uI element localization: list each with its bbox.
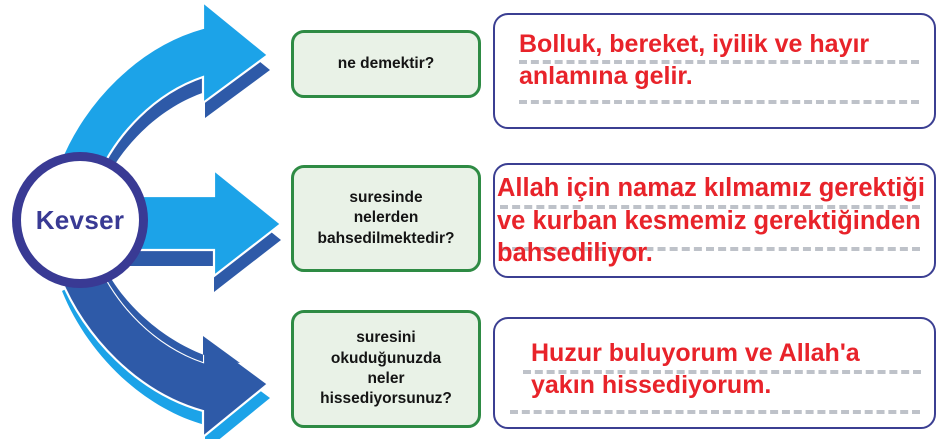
answer-line: yakın hissediyorum. [531,369,860,401]
question-line: bahsedilmektedir? [318,230,455,247]
answer-text-3: Huzur buluyorum ve Allah'a yakın hissedi… [531,337,860,401]
question-line: okuduğunuzda [331,350,441,367]
answer-line: Huzur buluyorum ve Allah'a [531,337,860,369]
answer-line: Bolluk, bereket, iyilik ve hayır [519,28,869,60]
question-box-2[interactable]: suresinde nelerden bahsedilmektedir? [291,165,481,272]
answer-text-1: Bolluk, bereket, iyilik ve hayır anlamın… [519,28,869,92]
answer-text-2: Allah için namaz kılmamız gerektiği ve k… [497,172,925,270]
question-box-3[interactable]: suresini okuduğunuzda neler hissediyorsu… [291,310,481,428]
answer-line: bahsediliyor. [497,237,925,270]
answer-line: ve kurban kesmemiz gerektiğinden [497,205,925,238]
question-line: ne demektir? [338,55,434,72]
question-line: hissediyorsunuz? [320,390,452,407]
center-node-label: Kevser [36,207,125,233]
question-text-3: suresini okuduğunuzda neler hissediyorsu… [314,328,458,410]
answer-line: Allah için namaz kılmamız gerektiği [497,172,925,205]
question-box-1[interactable]: ne demektir? [291,30,481,98]
center-node: Kevser [12,152,148,288]
question-text-1: ne demektir? [332,54,440,74]
question-line: neler [367,370,404,387]
writing-rule [510,410,920,414]
concept-map-diagram: Kevser ne demektir? suresinde nelerden b… [0,0,951,439]
question-line: nelerden [354,209,419,226]
question-text-2: suresinde nelerden bahsedilmektedir? [312,188,461,249]
question-line: suresinde [349,189,422,206]
writing-rule [519,100,919,104]
question-line: suresini [356,329,415,346]
answer-line: anlamına gelir. [519,60,869,92]
